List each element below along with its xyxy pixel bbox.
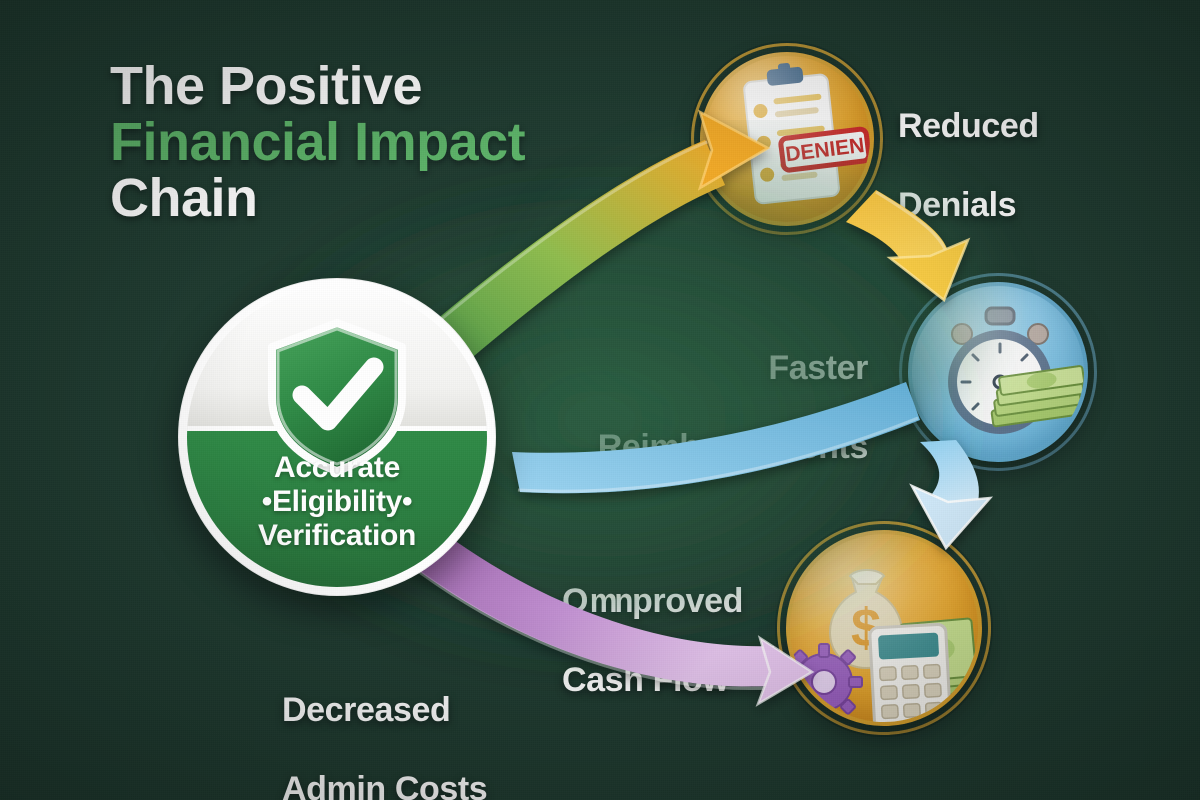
hub-label: Accurate •Eligibility• Verification	[187, 451, 487, 553]
infographic-canvas: The Positive Financial Impact Chain	[0, 0, 1200, 800]
hub-label-line-3: Verification	[187, 519, 487, 553]
page-title: The Positive Financial Impact Chain	[110, 58, 525, 226]
title-line-1: The Positive	[110, 58, 525, 114]
hub-inner-disc: Accurate •Eligibility• Verification	[187, 287, 487, 587]
arrow-denials-to-reimbursements	[846, 190, 968, 300]
arrow-reimbursements-to-hub	[512, 382, 920, 493]
arrow-reimbursements-to-cashflow	[912, 440, 990, 548]
node-accurate-eligibility-verification[interactable]: Accurate •Eligibility• Verification	[178, 278, 496, 596]
title-line-2: Financial Impact	[110, 114, 525, 170]
hub-label-line-1: Accurate	[187, 451, 487, 485]
hub-label-line-2: •Eligibility•	[187, 485, 487, 519]
title-line-3: Chain	[110, 170, 525, 226]
